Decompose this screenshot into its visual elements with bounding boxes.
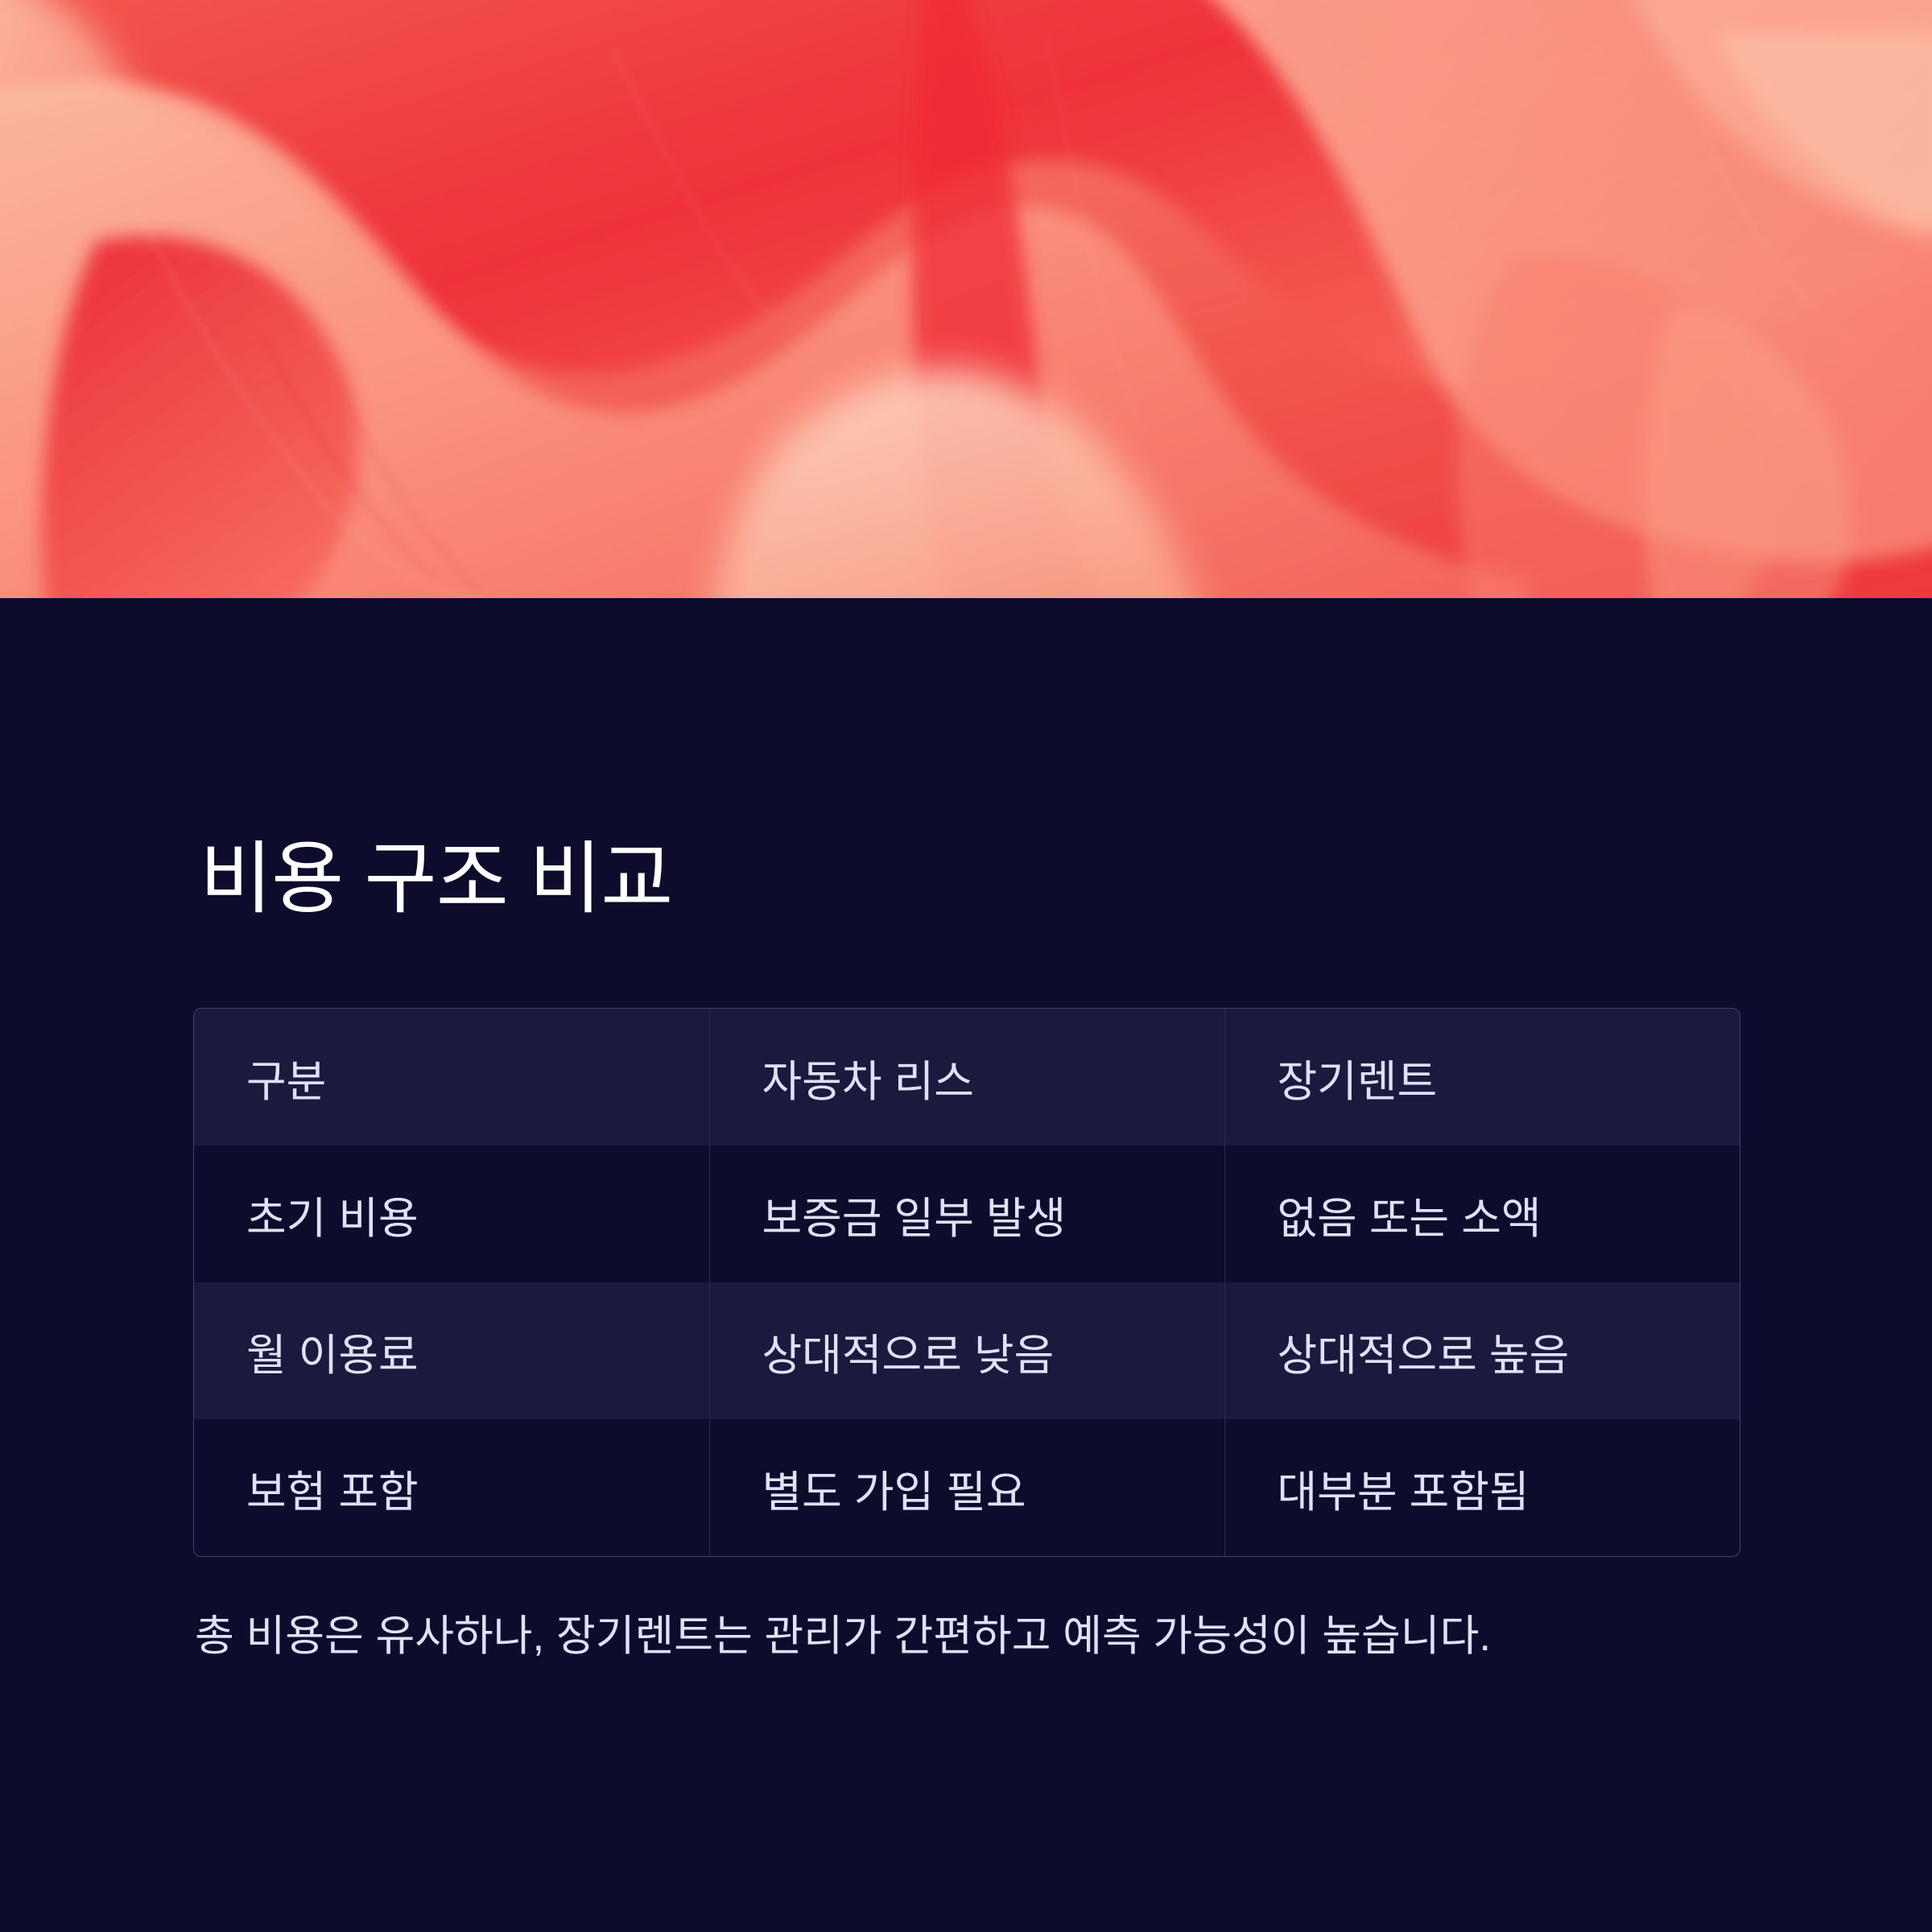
hero-image [0, 0, 1932, 598]
table-header: 구분 자동차 리스 장기렌트 [194, 1009, 1740, 1146]
table-header-cell-category: 구분 [194, 1009, 709, 1146]
table-cell-longterm-rent: 상대적으로 높음 [1224, 1282, 1740, 1419]
table-cell-category: 보험 포함 [194, 1419, 709, 1556]
table-cell-lease: 별도 가입 필요 [709, 1419, 1224, 1556]
table-cell-lease: 보증금 일부 발생 [709, 1146, 1224, 1282]
table-cell-longterm-rent: 없음 또는 소액 [1224, 1146, 1740, 1282]
comparison-table: 구분 자동차 리스 장기렌트 초기 비용 보증금 일부 발생 없음 또는 소액 … [194, 1009, 1740, 1556]
summary-caption: 총 비용은 유사하나, 장기렌트는 관리가 간편하고 예측 가능성이 높습니다. [195, 1602, 1491, 1663]
table-cell-longterm-rent: 대부분 포함됨 [1224, 1419, 1740, 1556]
table-cell-category: 월 이용료 [194, 1282, 709, 1419]
comparison-table-container: 구분 자동차 리스 장기렌트 초기 비용 보증금 일부 발생 없음 또는 소액 … [193, 1008, 1740, 1557]
table-row: 보험 포함 별도 가입 필요 대부분 포함됨 [194, 1419, 1740, 1556]
table-header-cell-lease: 자동차 리스 [709, 1009, 1224, 1146]
hero-abstract-graphic [0, 0, 1932, 598]
table-cell-lease: 상대적으로 낮음 [709, 1282, 1224, 1419]
page-title: 비용 구조 비교 [200, 833, 672, 924]
table-body: 초기 비용 보증금 일부 발생 없음 또는 소액 월 이용료 상대적으로 낮음 … [194, 1146, 1740, 1556]
table-row: 초기 비용 보증금 일부 발생 없음 또는 소액 [194, 1146, 1740, 1282]
table-header-row: 구분 자동차 리스 장기렌트 [194, 1009, 1740, 1146]
slide-page: 비용 구조 비교 구분 자동차 리스 장기렌트 초기 비용 보증금 일부 발생 … [0, 0, 1932, 1932]
table-row: 월 이용료 상대적으로 낮음 상대적으로 높음 [194, 1282, 1740, 1419]
table-cell-category: 초기 비용 [194, 1146, 709, 1282]
table-header-cell-longterm-rent: 장기렌트 [1224, 1009, 1740, 1146]
